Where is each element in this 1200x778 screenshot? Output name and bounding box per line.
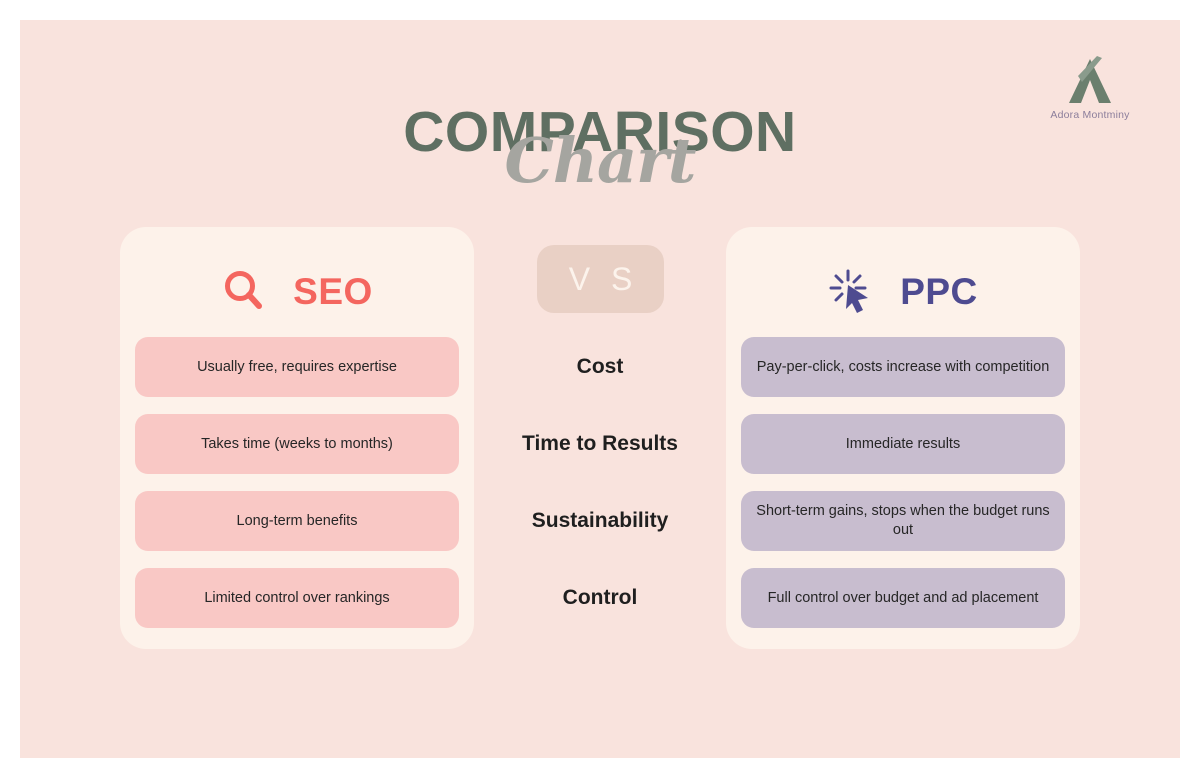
list-item[interactable]: Limited control over rankings <box>135 568 459 628</box>
list-item[interactable]: Full control over budget and ad placemen… <box>741 568 1065 628</box>
vs-label: V S <box>563 261 639 298</box>
column-label-ppc: PPC <box>900 273 978 310</box>
mountain-a-logo-icon <box>1061 56 1119 108</box>
list-item[interactable]: Pay-per-click, costs increase with compe… <box>741 337 1065 397</box>
criteria-item: Time to Results <box>474 414 726 474</box>
column-label-seo: SEO <box>293 273 373 310</box>
magnifier-icon <box>221 268 267 314</box>
criteria-column: V S Cost Time to Results Sustainability … <box>474 227 726 657</box>
criteria-list: Cost Time to Results Sustainability Cont… <box>474 337 726 645</box>
list-item[interactable]: Long-term benefits <box>135 491 459 551</box>
page-title: COMPARISON Chart <box>20 104 1180 192</box>
criteria-item: Cost <box>474 337 726 397</box>
column-seo: SEO Usually free, requires expertise Tak… <box>120 227 474 649</box>
column-header-ppc: PPC <box>726 255 1080 327</box>
column-ppc: PPC Pay-per-click, costs increase with c… <box>726 227 1080 649</box>
comparison-board: SEO Usually free, requires expertise Tak… <box>20 227 1180 657</box>
list-item[interactable]: Takes time (weeks to months) <box>135 414 459 474</box>
list-item[interactable]: Short-term gains, stops when the budget … <box>741 491 1065 551</box>
seo-item-list: Usually free, requires expertise Takes t… <box>135 337 459 645</box>
column-header-seo: SEO <box>120 255 474 327</box>
criteria-item: Sustainability <box>474 491 726 551</box>
criteria-item: Control <box>474 568 726 628</box>
ppc-item-list: Pay-per-click, costs increase with compe… <box>741 337 1065 645</box>
click-cursor-icon <box>828 268 874 314</box>
vs-badge: V S <box>537 245 664 313</box>
title-script: Chart <box>20 130 1180 192</box>
list-item[interactable]: Immediate results <box>741 414 1065 474</box>
list-item[interactable]: Usually free, requires expertise <box>135 337 459 397</box>
poster-canvas: Adora Montminy COMPARISON Chart SEO Usua… <box>20 20 1180 758</box>
